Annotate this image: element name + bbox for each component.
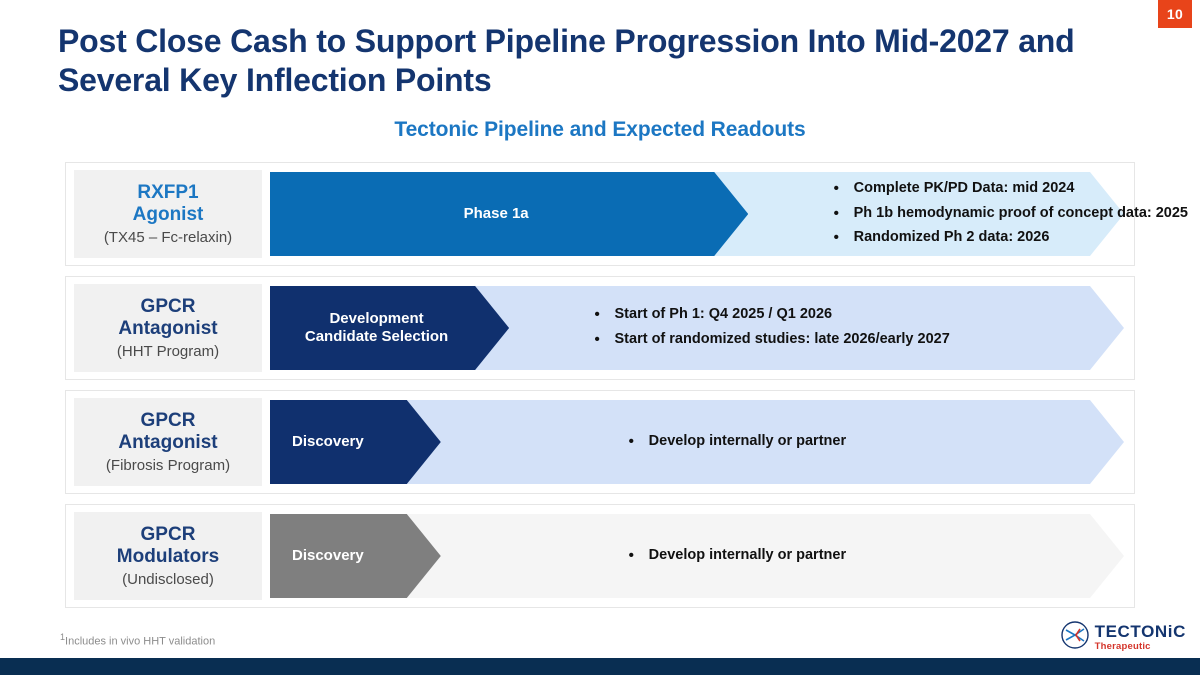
readout-text: Develop internally or partner <box>649 544 846 568</box>
program-label-card: GPCRAntagonist(Fibrosis Program) <box>74 398 262 486</box>
page-number-badge: 10 <box>1158 0 1192 28</box>
readout-item: •Complete PK/PD Data: mid 2024 <box>834 177 1188 202</box>
pipeline-row: GPCRAntagonist(HHT Program)DevelopmentCa… <box>65 276 1135 380</box>
program-name: GPCRModulators <box>117 524 219 568</box>
readout-text: Start of randomized studies: late 2026/e… <box>615 328 950 352</box>
stage-label-line: Development <box>270 310 483 328</box>
stage-arrow[interactable]: Phase 1a <box>270 172 748 256</box>
readout-item: •Start of Ph 1: Q4 2025 / Q1 2026 <box>595 303 950 328</box>
stage-track: Discovery•Develop internally or partner <box>270 400 1124 484</box>
stage-label: Discovery <box>270 433 441 451</box>
readout-list: •Develop internally or partner <box>629 400 846 484</box>
stage-label-line: Phase 1a <box>270 205 722 223</box>
program-label-card: RXFP1Agonist(TX45 – Fc-relaxin) <box>74 170 262 258</box>
readout-text: Develop internally or partner <box>649 430 846 454</box>
pipeline-row: GPCRAntagonist(Fibrosis Program)Discover… <box>65 390 1135 494</box>
program-detail: (HHT Program) <box>117 343 219 360</box>
page-number-text: 10 <box>1167 6 1183 22</box>
program-name-line1: GPCR <box>117 524 219 546</box>
readout-item: •Develop internally or partner <box>629 544 846 569</box>
tectonic-circle-mark-icon <box>1060 620 1090 655</box>
program-label-card: GPCRModulators(Undisclosed) <box>74 512 262 600</box>
pipeline-row: RXFP1Agonist(TX45 – Fc-relaxin)Phase 1a•… <box>65 162 1135 266</box>
program-name-line2: Antagonist <box>118 318 217 340</box>
bullet-icon: • <box>595 328 615 353</box>
logo-tagline: Therapeutic <box>1095 642 1186 652</box>
bullet-icon: • <box>834 202 854 227</box>
stage-arrow[interactable]: Discovery <box>270 514 441 598</box>
footnote: 1Includes in vivo HHT validation <box>60 632 215 648</box>
stage-label-line: Discovery <box>292 547 441 565</box>
logo-wordmark: TECTONiC Therapeutic <box>1095 623 1186 652</box>
readout-list: •Complete PK/PD Data: mid 2024•Ph 1b hem… <box>834 172 1188 256</box>
bullet-icon: • <box>629 544 649 569</box>
program-name: GPCRAntagonist <box>118 296 217 340</box>
stage-label: DevelopmentCandidate Selection <box>270 310 509 346</box>
stage-arrow[interactable]: Discovery <box>270 400 441 484</box>
stage-label: Phase 1a <box>270 205 748 223</box>
readout-item: •Develop internally or partner <box>629 430 846 455</box>
readout-text: Ph 1b hemodynamic proof of concept data:… <box>854 202 1188 226</box>
stage-track: DevelopmentCandidate Selection•Start of … <box>270 286 1124 370</box>
program-name-line2: Modulators <box>117 546 219 568</box>
program-name-line1: GPCR <box>118 410 217 432</box>
program-name-line2: Agonist <box>133 204 204 226</box>
footnote-text: Includes in vivo HHT validation <box>65 636 215 648</box>
readout-item: •Ph 1b hemodynamic proof of concept data… <box>834 202 1188 227</box>
readout-text: Start of Ph 1: Q4 2025 / Q1 2026 <box>615 303 833 327</box>
footer-bar <box>0 658 1200 675</box>
program-detail: (Undisclosed) <box>122 571 214 588</box>
readout-list: •Develop internally or partner <box>629 514 846 598</box>
readout-text: Randomized Ph 2 data: 2026 <box>854 226 1050 250</box>
page-subtitle: Tectonic Pipeline and Expected Readouts <box>0 118 1200 142</box>
readout-item: •Randomized Ph 2 data: 2026 <box>834 226 1188 251</box>
pipeline-row: GPCRModulators(Undisclosed)Discovery•Dev… <box>65 504 1135 608</box>
readout-list: •Start of Ph 1: Q4 2025 / Q1 2026•Start … <box>595 286 950 370</box>
program-detail: (Fibrosis Program) <box>106 457 230 474</box>
readout-text: Complete PK/PD Data: mid 2024 <box>854 177 1075 201</box>
readout-item: •Start of randomized studies: late 2026/… <box>595 328 950 353</box>
logo-name: TECTONiC <box>1095 623 1186 640</box>
program-detail: (TX45 – Fc-relaxin) <box>104 229 232 246</box>
stage-track: Discovery•Develop internally or partner <box>270 514 1124 598</box>
stage-label-line: Discovery <box>292 433 441 451</box>
bullet-icon: • <box>834 226 854 251</box>
page-title: Post Close Cash to Support Pipeline Prog… <box>58 22 1118 100</box>
program-label-card: GPCRAntagonist(HHT Program) <box>74 284 262 372</box>
bullet-icon: • <box>834 177 854 202</box>
bullet-icon: • <box>629 430 649 455</box>
program-name: RXFP1Agonist <box>133 182 204 226</box>
program-name-line1: RXFP1 <box>133 182 204 204</box>
company-logo: TECTONiC Therapeutic <box>1060 620 1186 655</box>
stage-track: Phase 1a•Complete PK/PD Data: mid 2024•P… <box>270 172 1124 256</box>
bullet-icon: • <box>595 303 615 328</box>
program-name: GPCRAntagonist <box>118 410 217 454</box>
stage-label: Discovery <box>270 547 441 565</box>
pipeline-table: RXFP1Agonist(TX45 – Fc-relaxin)Phase 1a•… <box>65 162 1135 608</box>
stage-arrow[interactable]: DevelopmentCandidate Selection <box>270 286 509 370</box>
program-name-line1: GPCR <box>118 296 217 318</box>
stage-label-line: Candidate Selection <box>270 328 483 346</box>
program-name-line2: Antagonist <box>118 432 217 454</box>
